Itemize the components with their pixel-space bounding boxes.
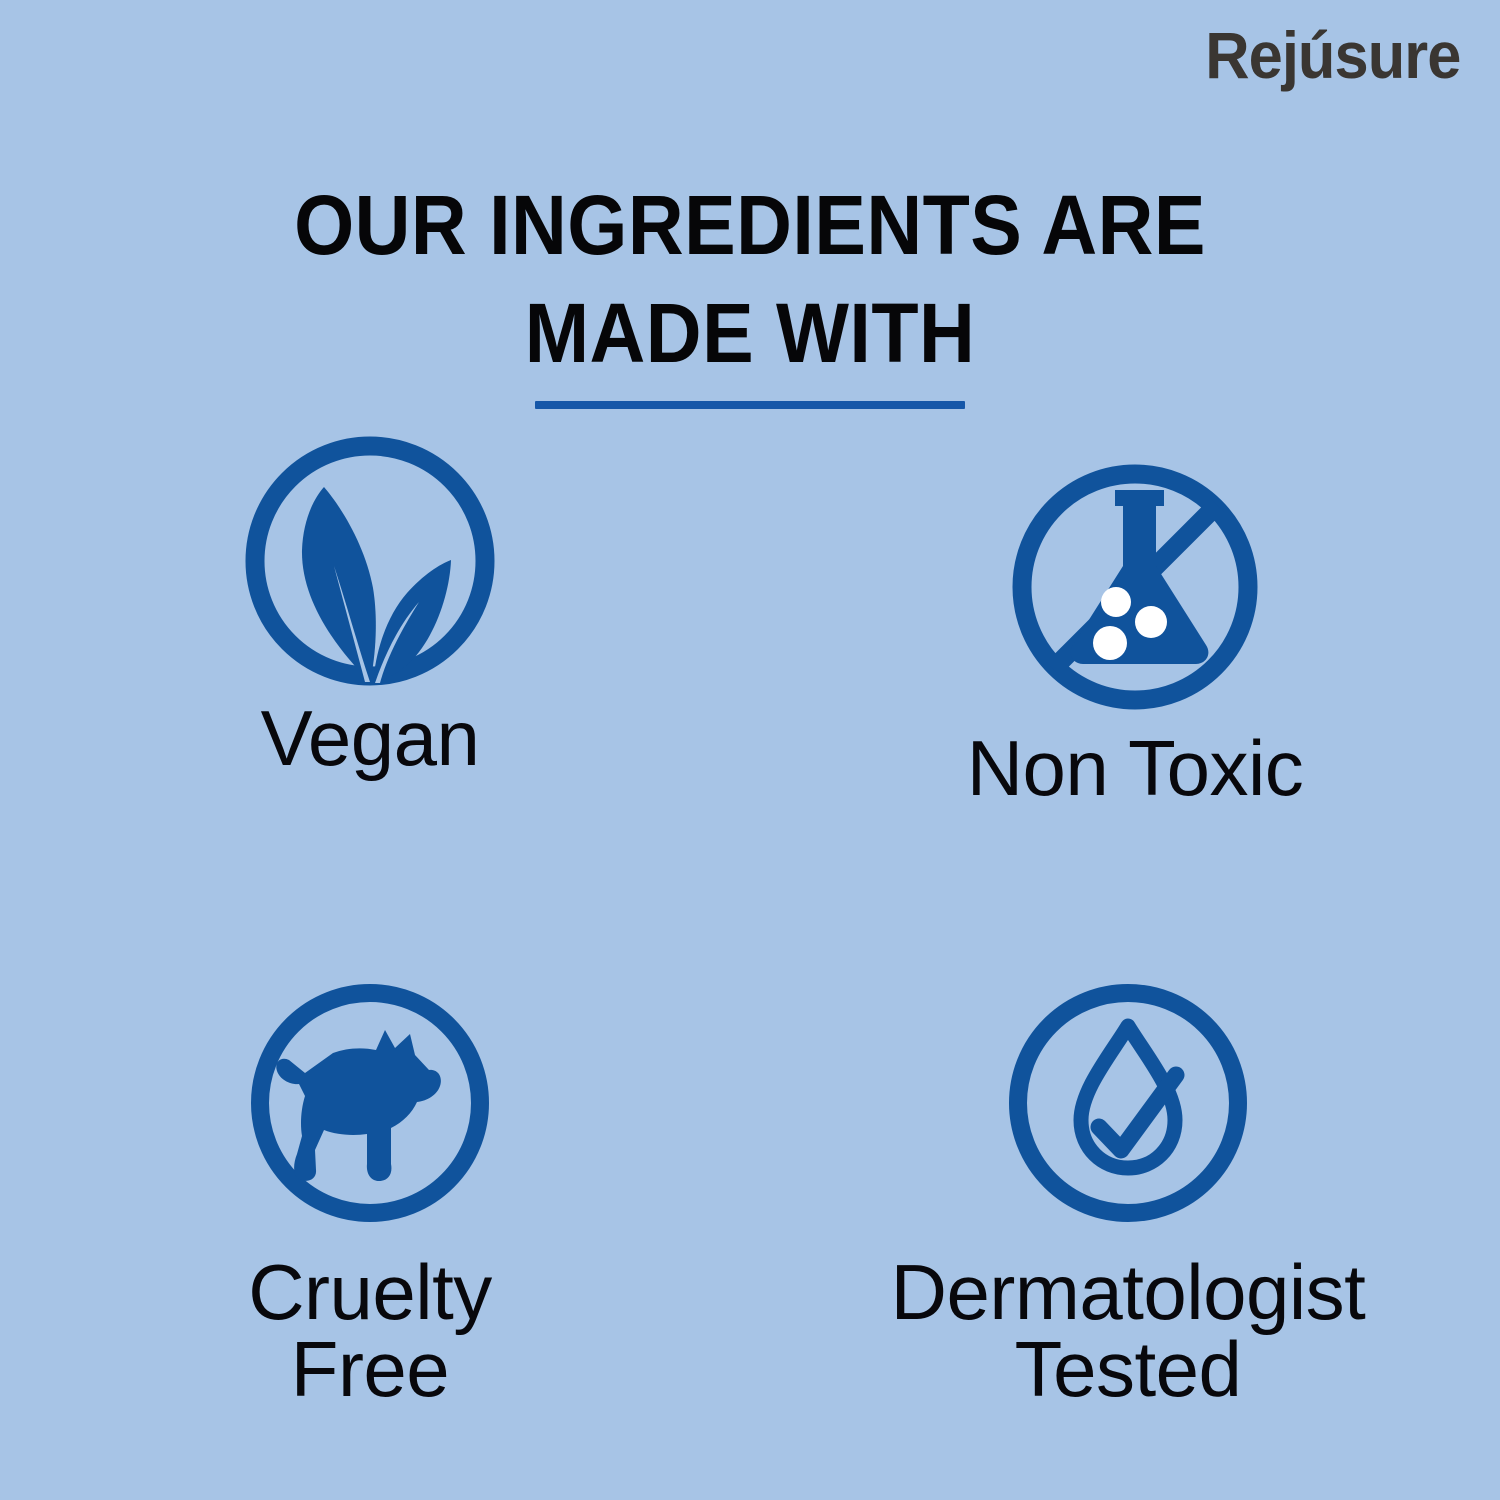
page-title: OUR INGREDIENTS ARE MADE WITH (0, 172, 1500, 409)
badge-label-dermatologist-tested: Dermatologist Tested (818, 1254, 1438, 1408)
leaf-circle-icon (239, 430, 501, 692)
badge-vegan: Vegan (60, 430, 680, 777)
badge-label-vegan: Vegan (60, 700, 680, 777)
brand-logo: Rejúsure (1205, 22, 1460, 88)
title-underline-rule (535, 401, 965, 409)
droplet-check-circle-icon (1003, 978, 1253, 1228)
badge-label-non-toxic: Non Toxic (825, 730, 1445, 807)
badge-non-toxic: Non Toxic (825, 458, 1445, 807)
page-title-line-2: MADE WITH (60, 280, 1440, 388)
badge-label-cruelty-free: Cruelty Free (60, 1254, 680, 1408)
dog-circle-icon (245, 978, 495, 1228)
no-chemicals-flask-icon (1006, 458, 1264, 716)
badge-dermatologist-tested: Dermatologist Tested (818, 978, 1438, 1408)
badge-cruelty-free: Cruelty Free (60, 978, 680, 1408)
badge-grid: Vegan Non Toxic Cruelty Free (0, 430, 1500, 1480)
page-title-line-1: OUR INGREDIENTS ARE (60, 172, 1440, 280)
